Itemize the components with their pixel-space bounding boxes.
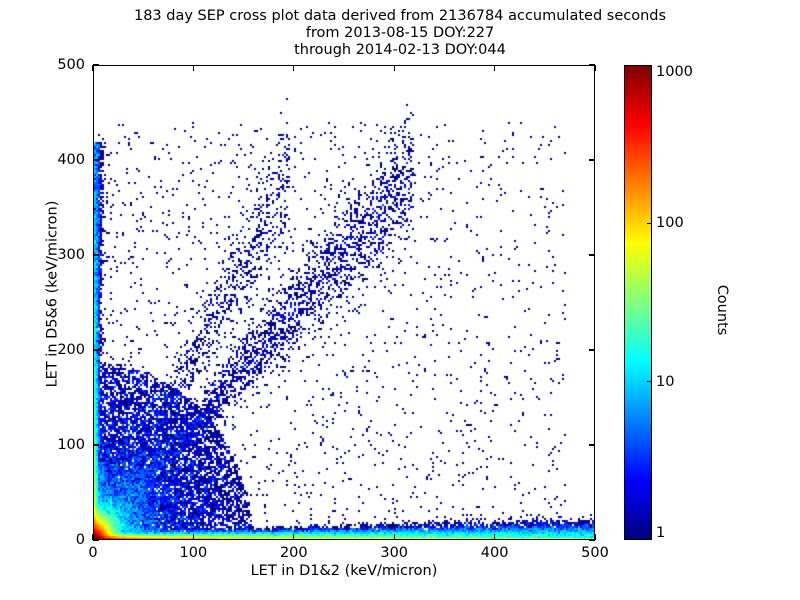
- title-line-2: from 2013-08-15 DOY:227: [0, 25, 800, 42]
- x-tick-top: [92, 65, 93, 71]
- x-tick-label: 300: [380, 545, 408, 561]
- x-tick-top: [394, 65, 395, 71]
- colorbar-gradient: [625, 66, 651, 539]
- x-tick-label: 500: [581, 545, 609, 561]
- y-tick-left: [93, 349, 99, 350]
- x-tick-label: 200: [280, 545, 308, 561]
- y-axis-label: LET in D5&6 (keV/micron): [45, 57, 61, 532]
- y-tick-right: [589, 539, 595, 540]
- colorbar-label: Counts: [714, 200, 730, 420]
- x-tick-label: 0: [88, 545, 97, 561]
- x-tick-bottom: [394, 534, 395, 540]
- x-tick-top: [494, 65, 495, 71]
- x-tick-top: [293, 65, 294, 71]
- y-tick-right: [589, 254, 595, 255]
- x-tick-bottom: [193, 534, 194, 540]
- x-tick-top: [594, 65, 595, 71]
- x-tick-label: 400: [481, 545, 509, 561]
- colorbar-tick: [647, 223, 652, 224]
- plot-axes: [93, 65, 595, 540]
- x-axis-label: LET in D1&2 (keV/micron): [93, 563, 595, 579]
- y-tick-left: [93, 254, 99, 255]
- y-tick-label: 0: [27, 532, 85, 548]
- colorbar-tick-label: 1: [656, 525, 665, 541]
- y-tick-right: [589, 444, 595, 445]
- y-tick-right: [589, 64, 595, 65]
- y-tick-right: [589, 349, 595, 350]
- x-tick-top: [193, 65, 194, 71]
- colorbar-tick: [647, 381, 652, 382]
- y-tick-left: [93, 159, 99, 160]
- title-line-1: 183 day SEP cross plot data derived from…: [0, 8, 800, 25]
- colorbar-tick-label: 1000: [656, 64, 693, 80]
- x-tick-bottom: [494, 534, 495, 540]
- y-tick-left: [93, 539, 99, 540]
- x-tick-bottom: [293, 534, 294, 540]
- scatter-density-plot: [94, 66, 595, 540]
- title-line-3: through 2014-02-13 DOY:044: [0, 42, 800, 59]
- y-tick-left: [93, 64, 99, 65]
- colorbar-tick-label: 10: [656, 374, 674, 390]
- colorbar-tick-label: 100: [656, 215, 684, 231]
- y-tick-left: [93, 444, 99, 445]
- x-tick-label: 100: [180, 545, 208, 561]
- chart-title: 183 day SEP cross plot data derived from…: [0, 8, 800, 59]
- y-tick-right: [589, 159, 595, 160]
- colorbar: [624, 65, 652, 540]
- figure-canvas: 183 day SEP cross plot data derived from…: [0, 0, 800, 600]
